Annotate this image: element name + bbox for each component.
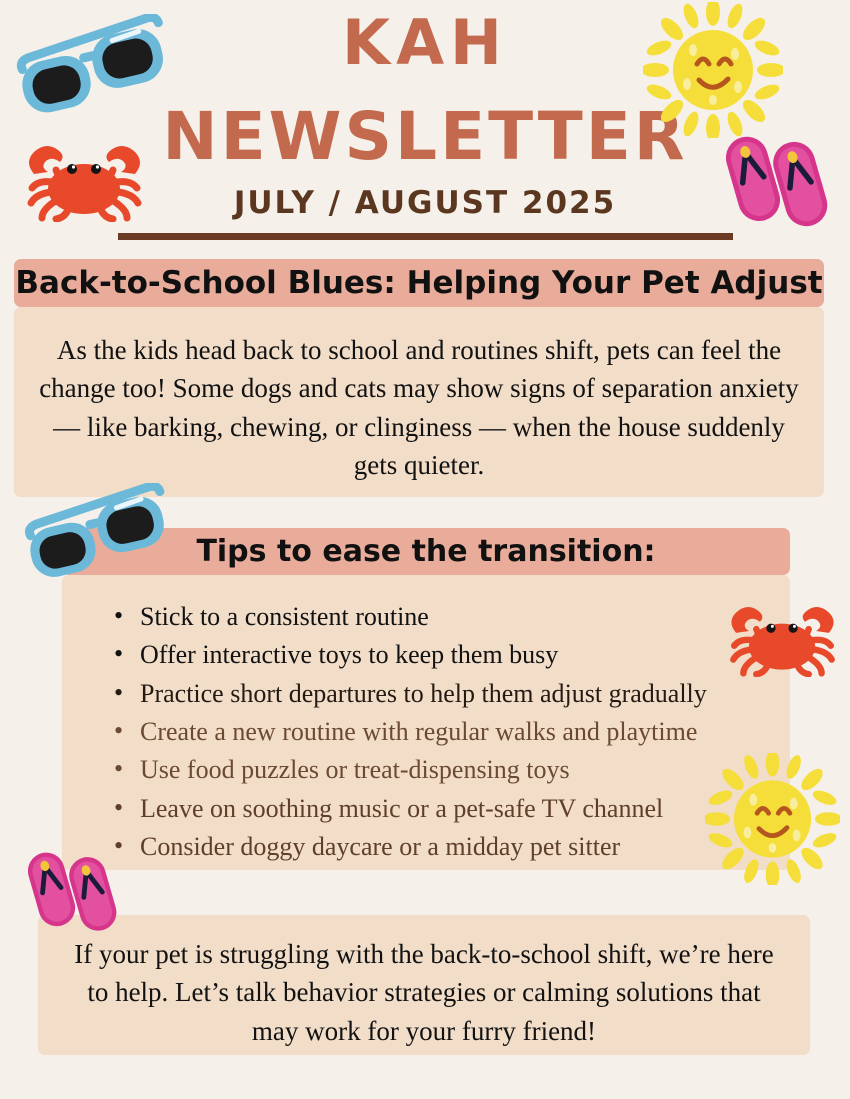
bullet-icon: • bbox=[114, 713, 123, 748]
newsletter-page: KAH NEWSLETTER JULY / AUGUST 2025 Back-t… bbox=[0, 0, 850, 1099]
section3-body-box: If your pet is struggling with the back-… bbox=[38, 915, 810, 1055]
page-title-secondary: NEWSLETTER bbox=[0, 104, 850, 170]
section1-heading-text: Back-to-School Blues: Helping Your Pet A… bbox=[15, 265, 822, 301]
tip-text: Practice short departures to help them a… bbox=[140, 679, 707, 708]
bullet-icon: • bbox=[114, 675, 123, 710]
section2-heading-text: Tips to ease the transition: bbox=[196, 534, 655, 569]
tip-text: Stick to a consistent routine bbox=[140, 602, 429, 631]
list-item: •Consider doggy daycare or a midday pet … bbox=[110, 829, 790, 864]
tip-text: Create a new routine with regular walks … bbox=[140, 717, 697, 746]
section2-body-box: •Stick to a consistent routine•Offer int… bbox=[62, 575, 790, 870]
bullet-icon: • bbox=[114, 790, 123, 825]
issue-date: JULY / AUGUST 2025 bbox=[0, 188, 850, 219]
list-item: •Stick to a consistent routine bbox=[110, 599, 790, 634]
list-item: •Leave on soothing music or a pet-safe T… bbox=[110, 791, 790, 826]
section1-body-box: As the kids head back to school and rout… bbox=[14, 307, 824, 497]
bullet-icon: • bbox=[114, 598, 123, 633]
tip-text: Leave on soothing music or a pet-safe TV… bbox=[140, 794, 663, 823]
section2-heading-banner: Tips to ease the transition: bbox=[62, 528, 790, 575]
list-item: •Create a new routine with regular walks… bbox=[110, 714, 790, 749]
list-item: •Offer interactive toys to keep them bus… bbox=[110, 637, 790, 672]
section3-paragraph: If your pet is struggling with the back-… bbox=[38, 915, 810, 1050]
page-title-primary: KAH bbox=[0, 12, 850, 74]
tip-text: Offer interactive toys to keep them busy bbox=[140, 640, 558, 669]
bullet-icon: • bbox=[114, 828, 123, 863]
bullet-icon: • bbox=[114, 636, 123, 671]
section1-paragraph: As the kids head back to school and rout… bbox=[14, 307, 824, 484]
tip-text: Use food puzzles or treat-dispensing toy… bbox=[140, 755, 570, 784]
tip-text: Consider doggy daycare or a midday pet s… bbox=[140, 832, 620, 861]
tips-list: •Stick to a consistent routine•Offer int… bbox=[62, 575, 790, 865]
newsletter-header: KAH NEWSLETTER JULY / AUGUST 2025 bbox=[0, 0, 850, 248]
section1-heading-banner: Back-to-School Blues: Helping Your Pet A… bbox=[14, 259, 824, 307]
header-divider bbox=[118, 233, 733, 240]
bullet-icon: • bbox=[114, 751, 123, 786]
list-item: •Practice short departures to help them … bbox=[110, 676, 790, 711]
list-item: •Use food puzzles or treat-dispensing to… bbox=[110, 752, 790, 787]
